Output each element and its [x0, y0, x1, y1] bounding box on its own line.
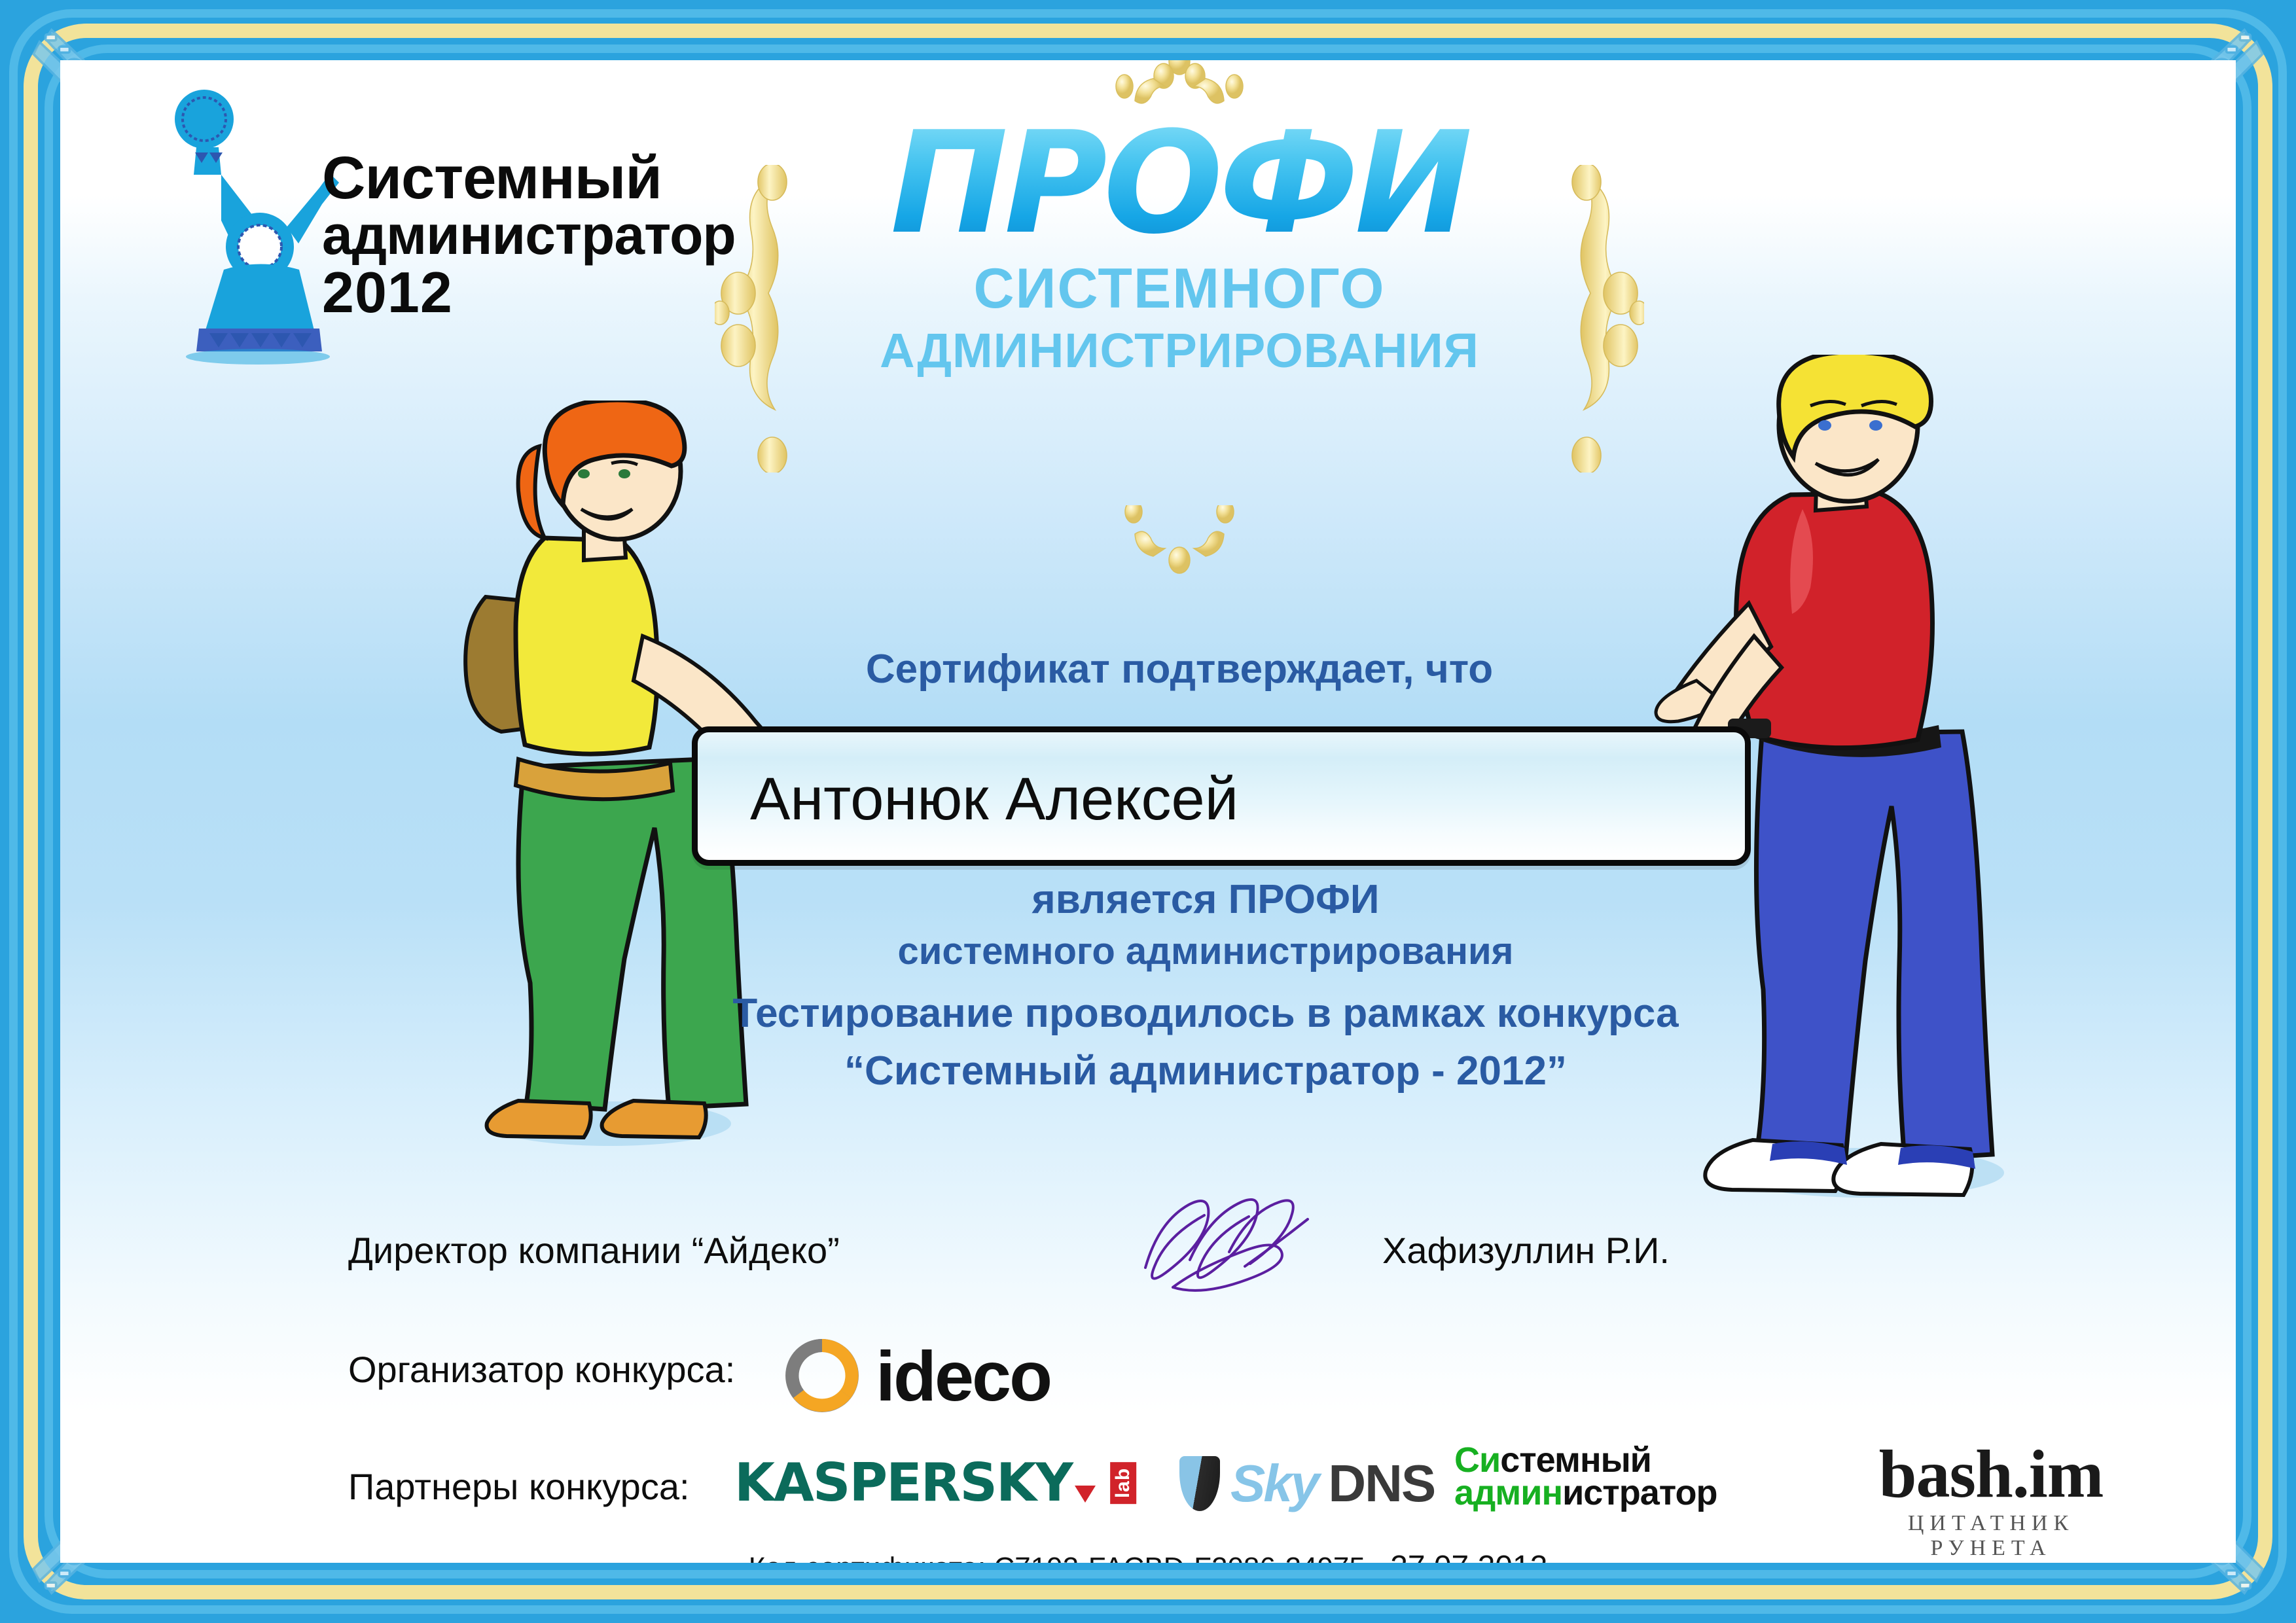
certificate-code-line: Код сертификата: C7192-FACBD-F2086-24975…: [60, 1549, 2236, 1563]
kaspersky-lab-logo: KASPERSKY lab: [734, 1452, 1144, 1513]
ideco-ring-icon: [780, 1334, 864, 1418]
ideco-logo: ideco: [780, 1323, 1050, 1428]
body-line-4: “Системный администратор - 2012”: [649, 1046, 1762, 1096]
confirm-line: Сертификат подтверждает, что: [728, 646, 1631, 692]
bash-im-logo: bash.im ЦИТАТНИК РУНЕТА: [1867, 1440, 2115, 1561]
profi-headline-block: ПРОФИ СИСТЕМНОГО АДМИНИСТРИРОВАНИЯ: [728, 86, 1631, 378]
body-line-1: является ПРОФИ: [649, 875, 1762, 925]
gold-ornament-bottom-icon: [1055, 505, 1304, 584]
signer-name: Хафизуллин Р.И.: [1382, 1229, 1670, 1272]
signature-row: Директор компании “Айдеко” Хафизуллин Р.…: [348, 1212, 1788, 1310]
shield-icon: [1179, 1456, 1220, 1511]
logo-line-2: администратор: [322, 207, 741, 262]
sysadmin-logo-l2a: админ: [1454, 1473, 1562, 1512]
code-label: Код сертификата:: [749, 1552, 986, 1563]
body-line-2: системного администрирования: [649, 929, 1762, 975]
partners-row: Партнеры конкурса: KASPERSKY lab Sky DNS…: [348, 1438, 2115, 1543]
handwritten-signature-icon: [1134, 1189, 1323, 1307]
bash-im-wordmark: bash.im: [1867, 1440, 2115, 1508]
certificate-body: Системный администратор 2012: [60, 60, 2236, 1563]
organizer-label: Организатор конкурса:: [348, 1348, 735, 1391]
skydns-logo: Sky DNS: [1179, 1454, 1435, 1514]
recipient-name: Антонюк Алексей: [750, 765, 1238, 834]
profi-subtitle-2: АДМИНИСТРИРОВАНИЯ: [728, 323, 1631, 378]
code-value: C7192-FACBD-F2086-24975: [994, 1552, 1365, 1563]
partners-label: Партнеры конкурса:: [348, 1465, 690, 1508]
sysadmin-magazine-logo: Системный администратор: [1454, 1444, 1717, 1509]
body-line-3: Тестирование проводилось в рамках конкур…: [649, 989, 1762, 1039]
profi-subtitle-1: СИСТЕМНОГО: [728, 257, 1631, 321]
logo-line-1: Системный: [322, 149, 741, 207]
recipient-nameplate: Антонюк Алексей: [692, 726, 1751, 866]
certificate-page: Системный администратор 2012: [0, 0, 2296, 1623]
skydns-dns-text: DNS: [1328, 1454, 1435, 1514]
organizer-row: Организатор конкурса: ideco: [348, 1323, 1788, 1435]
logo-line-3: 2012: [322, 262, 741, 323]
gold-ornament-top-icon: [1055, 60, 1304, 139]
kaspersky-lab-badge: lab: [1110, 1461, 1136, 1503]
kaspersky-wordmark: KASPERSKY: [734, 1452, 1072, 1513]
issue-date: 27.07.2012: [1390, 1550, 1547, 1563]
sysadmin-logo-l2b: истратор: [1562, 1473, 1717, 1512]
gold-curl-right-icon: [1559, 165, 1644, 473]
ideco-wordmark: ideco: [876, 1335, 1050, 1417]
skydns-sky-text: Sky: [1230, 1454, 1318, 1514]
signature-label: Директор компании “Айдеко”: [348, 1229, 840, 1272]
kaspersky-triangle-icon: [1075, 1486, 1096, 1503]
certificate-body-text: является ПРОФИ системного администрирова…: [649, 875, 1762, 1096]
